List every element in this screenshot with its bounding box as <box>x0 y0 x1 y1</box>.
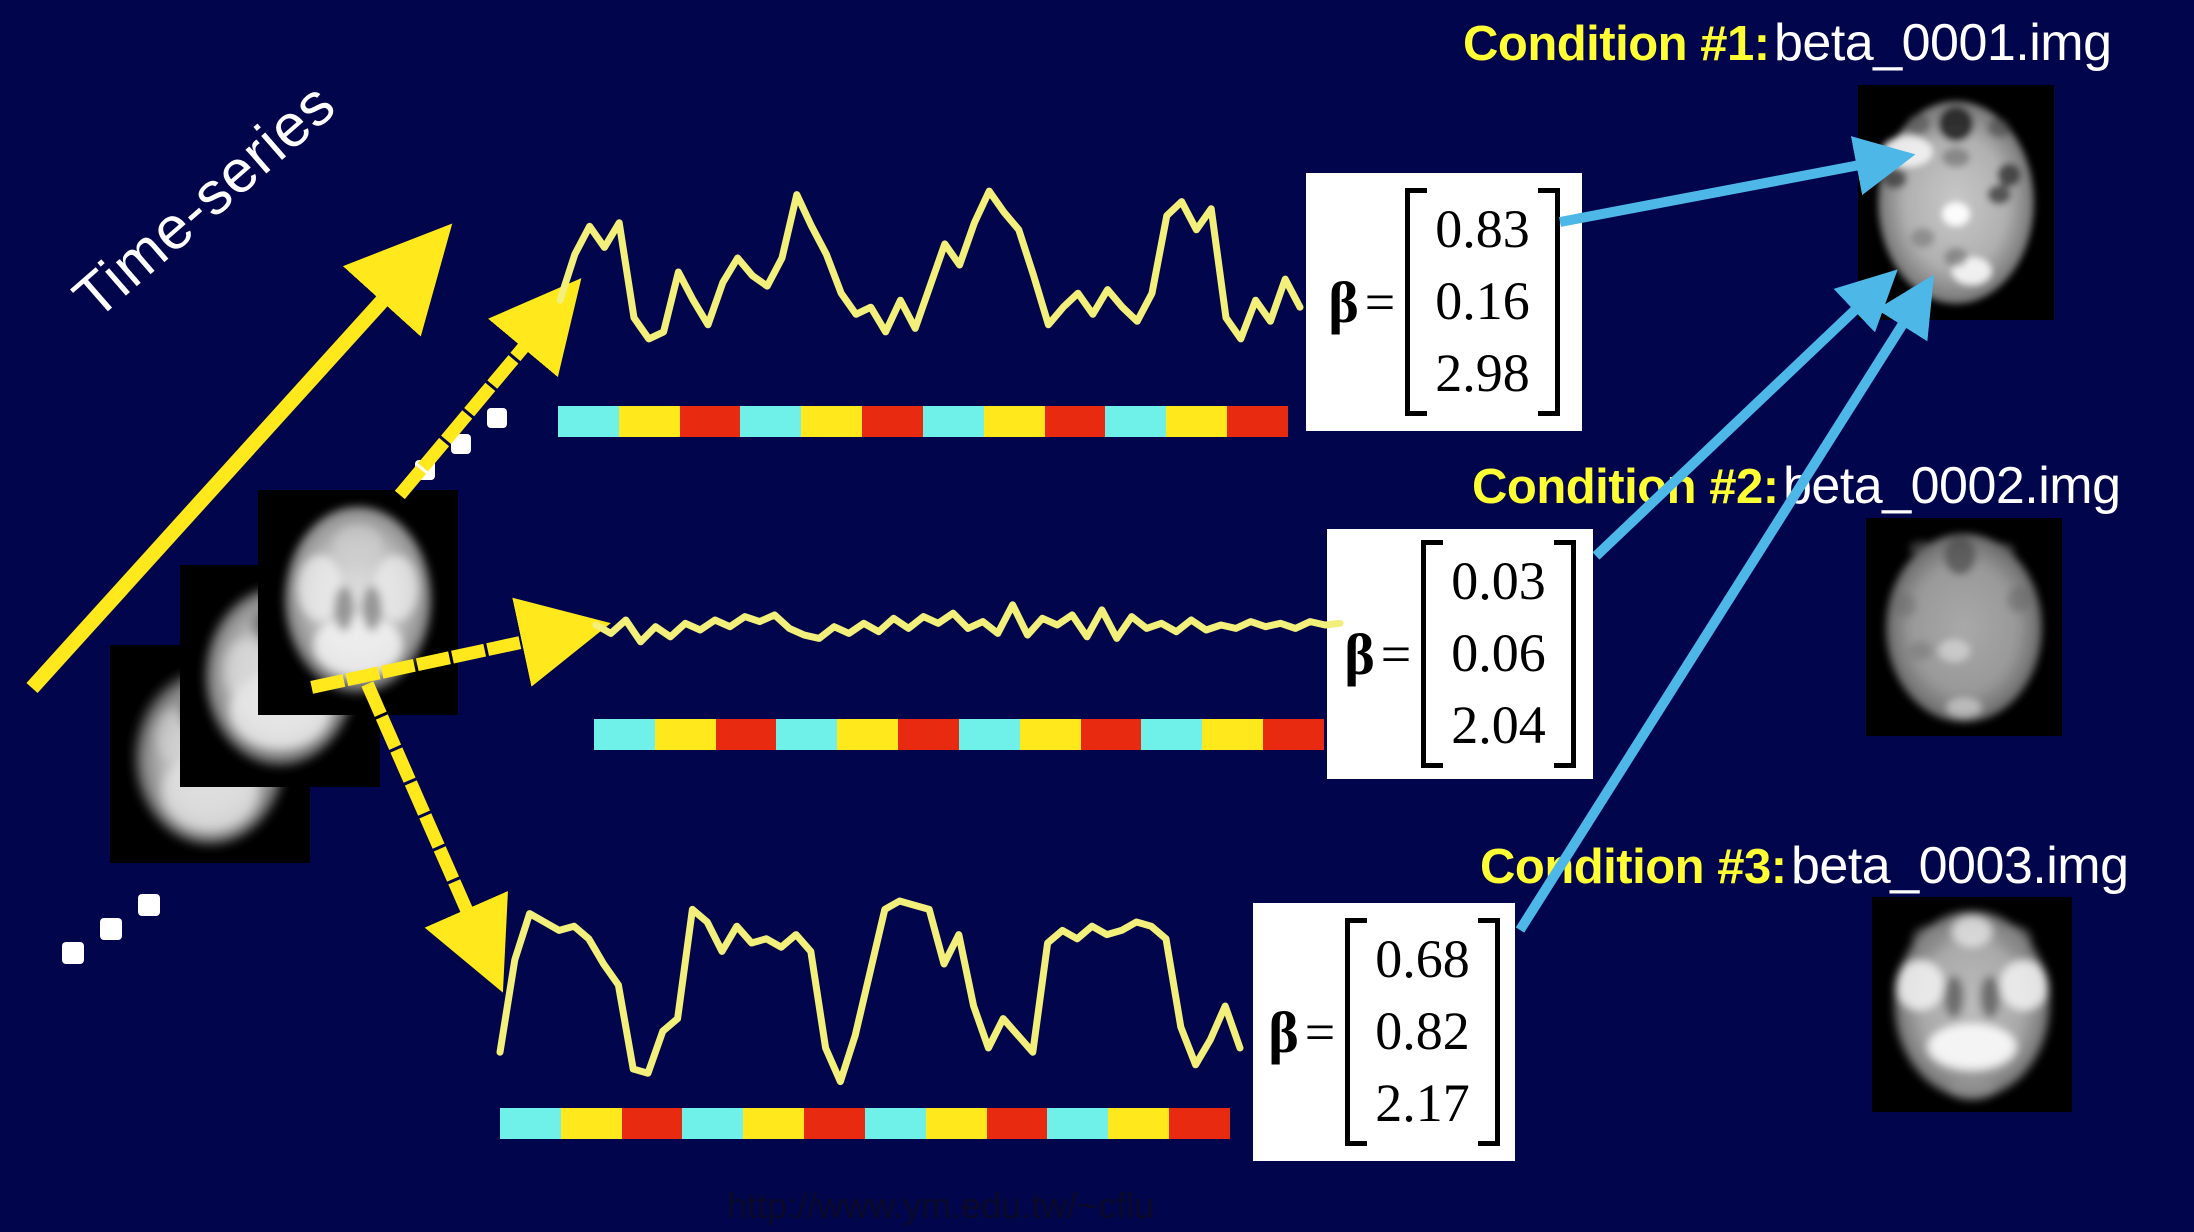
condition-timing-bar-2 <box>594 719 1324 750</box>
condition-block-yellow <box>743 1108 804 1139</box>
beta-value-3-3: 2.17 <box>1361 1068 1484 1140</box>
condition-block-red <box>987 1108 1048 1139</box>
brain-slice-volume-3 <box>258 490 458 715</box>
beta-matrix-1: β = 0.83 0.16 2.98 <box>1306 173 1582 431</box>
matrix-bracket-1: 0.83 0.16 2.98 <box>1405 188 1560 416</box>
condition-block-yellow <box>801 406 862 437</box>
beta-value-2-2: 0.06 <box>1437 618 1560 690</box>
slide-canvas: Time-series Condition #1: beta_0001.img … <box>0 0 2194 1232</box>
condition-block-cyan <box>923 406 984 437</box>
condition-label-1: Condition #1: <box>1463 17 1770 71</box>
beta-value-3-2: 0.82 <box>1361 996 1484 1068</box>
beta-map-render-2 <box>1866 518 2062 736</box>
timeseries-trace-1 <box>560 191 1300 339</box>
condition-block-cyan <box>682 1108 743 1139</box>
condition-block-yellow <box>655 719 716 750</box>
brain-slice-image-3 <box>258 490 458 715</box>
beta-equals-2: = <box>1381 623 1411 685</box>
beta-symbol-1: β <box>1328 269 1359 336</box>
ellipsis-dots-left <box>58 884 198 974</box>
beta-map-image-2[interactable] <box>1866 518 2062 736</box>
beta-value-1-3: 2.98 <box>1421 338 1544 410</box>
timeseries-trace-2 <box>596 605 1340 642</box>
condition-heading-1: Condition #1: beta_0001.img <box>1463 17 2112 69</box>
condition-heading-3: Condition #3: beta_0003.img <box>1480 840 2129 892</box>
condition-block-cyan <box>558 406 619 437</box>
beta-map-render-1 <box>1858 85 2054 320</box>
condition-file-1[interactable]: beta_0001.img <box>1774 14 2112 72</box>
condition-block-cyan <box>740 406 801 437</box>
beta-value-1-2: 0.16 <box>1421 266 1544 338</box>
condition-block-cyan <box>1105 406 1166 437</box>
condition-block-red <box>1169 1108 1230 1139</box>
beta-to-map-arrow-2 <box>1596 290 1876 556</box>
matrix-bracket-2: 0.03 0.06 2.04 <box>1421 540 1576 768</box>
timeseries-trace-3 <box>500 901 1240 1082</box>
beta-matrix-3: β = 0.68 0.82 2.17 <box>1253 903 1515 1161</box>
condition-block-red <box>804 1108 865 1139</box>
time-series-label: Time-series <box>60 69 348 332</box>
condition-timing-bar-1 <box>558 406 1288 437</box>
condition-block-red <box>716 719 777 750</box>
condition-block-yellow <box>561 1108 622 1139</box>
condition-label-3: Condition #3: <box>1480 840 1787 894</box>
condition-block-yellow <box>1166 406 1227 437</box>
condition-block-cyan <box>1141 719 1202 750</box>
footer-url[interactable]: http://www.ym.edu.tw/~cflu <box>727 1185 1154 1227</box>
condition-block-red <box>898 719 959 750</box>
condition-file-3[interactable]: beta_0003.img <box>1791 837 2129 895</box>
condition-timing-bar-3 <box>500 1108 1230 1139</box>
beta-equals-1: = <box>1365 271 1395 333</box>
beta-value-1-1: 0.83 <box>1421 194 1544 266</box>
condition-block-red <box>680 406 741 437</box>
beta-symbol-3: β <box>1268 999 1299 1066</box>
condition-block-red <box>862 406 923 437</box>
condition-block-red <box>622 1108 683 1139</box>
beta-to-map-arrow-1 <box>1560 160 1886 222</box>
beta-map-image-3[interactable] <box>1872 897 2072 1112</box>
condition-block-yellow <box>926 1108 987 1139</box>
condition-block-red <box>1227 406 1288 437</box>
ellipsis-dots-mid <box>415 400 545 490</box>
beta-value-2-1: 0.03 <box>1437 546 1560 618</box>
condition-file-2[interactable]: beta_0002.img <box>1783 457 2121 515</box>
beta-value-2-3: 2.04 <box>1437 690 1560 762</box>
condition-block-cyan <box>776 719 837 750</box>
condition-block-red <box>1045 406 1106 437</box>
condition-block-cyan <box>959 719 1020 750</box>
matrix-bracket-3: 0.68 0.82 2.17 <box>1345 918 1500 1146</box>
condition-block-yellow <box>619 406 680 437</box>
voxel-to-timeseries-arrow-3 <box>370 690 482 945</box>
beta-symbol-2: β <box>1344 621 1375 688</box>
condition-block-red <box>1263 719 1324 750</box>
condition-block-yellow <box>1202 719 1263 750</box>
condition-block-cyan <box>1047 1108 1108 1139</box>
condition-block-yellow <box>984 406 1045 437</box>
condition-block-yellow <box>1020 719 1081 750</box>
condition-block-cyan <box>865 1108 926 1139</box>
condition-label-2: Condition #2: <box>1472 460 1779 514</box>
beta-matrix-2: β = 0.03 0.06 2.04 <box>1327 529 1593 779</box>
condition-block-yellow <box>1108 1108 1169 1139</box>
beta-map-image-1[interactable] <box>1858 85 2054 320</box>
beta-value-3-1: 0.68 <box>1361 924 1484 996</box>
condition-block-red <box>1081 719 1142 750</box>
condition-block-cyan <box>594 719 655 750</box>
beta-equals-3: = <box>1305 1001 1335 1063</box>
beta-map-render-3 <box>1872 897 2072 1112</box>
condition-heading-2: Condition #2: beta_0002.img <box>1472 460 2121 512</box>
condition-block-cyan <box>500 1108 561 1139</box>
condition-block-yellow <box>837 719 898 750</box>
